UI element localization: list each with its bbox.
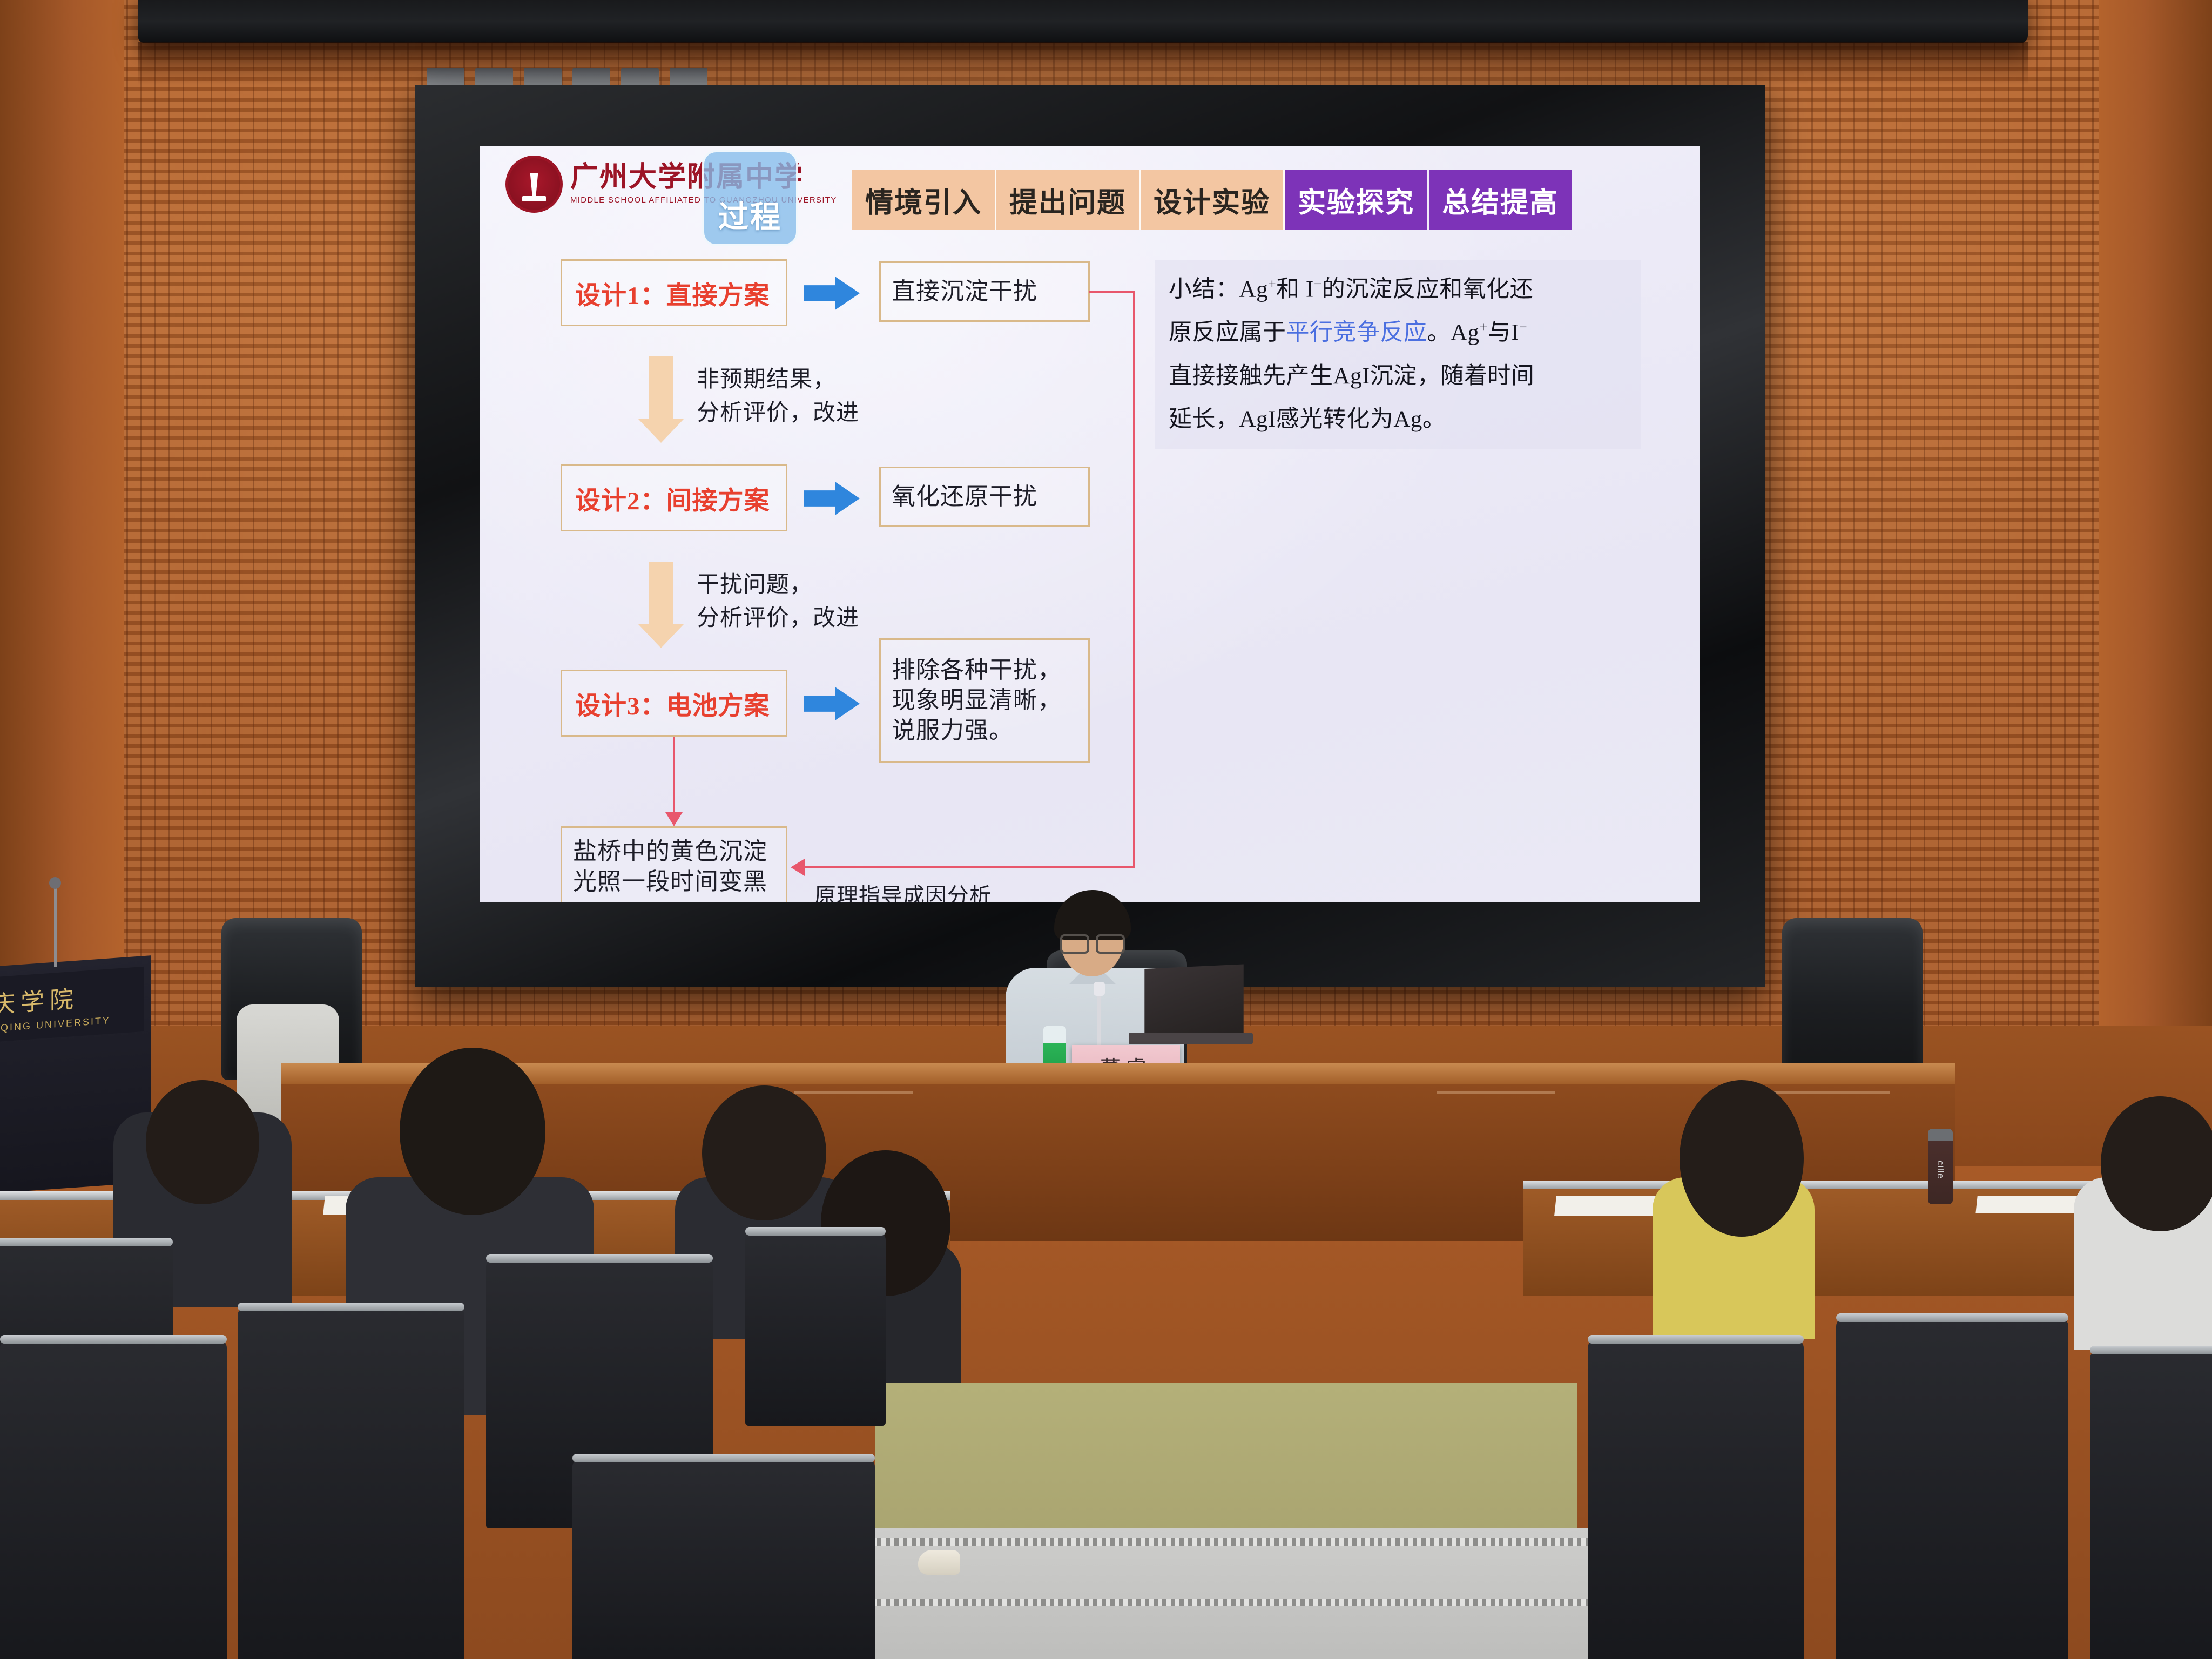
design-1-result-box: 直接沉淀干扰 (879, 261, 1090, 322)
wall-right-pillar (2099, 0, 2212, 1112)
speaker-glasses-icon (1060, 934, 1125, 950)
tab-design-experiment[interactable]: 设计实验 (1141, 170, 1285, 230)
ceiling-dark-panel (138, 0, 2028, 43)
outcome-line-2: 光照一段时间变黑 (573, 867, 775, 897)
design-flow-diagram: 设计1：直接方案 直接沉淀干扰 非预期结果， 分析评价，改进 设计2：间接方案 … (561, 259, 1133, 864)
front-table-top (281, 1063, 1955, 1085)
seat-top-rail (1836, 1313, 2068, 1322)
design-1-box: 设计1：直接方案 (561, 259, 787, 326)
design-2-title: 设计2：间接方案 (575, 480, 770, 517)
summary-l2-b: 。Ag (1427, 320, 1480, 346)
wall-left-pillar (0, 0, 124, 1112)
blue-arrow-icon (804, 276, 860, 310)
seat-back (1588, 1339, 1804, 1659)
seat-back (2090, 1350, 2212, 1659)
podium-sign: 庆学院 OQING UNIVERSITY (0, 967, 144, 1042)
summary-panel: 小结：Ag+和 I−的沉淀反应和氧化还 原反应属于平行竞争反应。Ag+与I− 直… (1155, 260, 1641, 449)
seat-top-rail (572, 1454, 875, 1462)
seat-top-rail (486, 1254, 713, 1263)
design-3-box: 设计3：电池方案 (561, 670, 787, 737)
outcome-box: 盐桥中的黄色沉淀 光照一段时间变黑 (561, 826, 787, 902)
seat-back (745, 1231, 886, 1426)
audience-member-head (1680, 1080, 1804, 1237)
seat-back (1836, 1318, 2068, 1659)
feedback-line-right (1133, 291, 1135, 868)
transition-1-line-1: 非预期结果， (697, 365, 836, 395)
summary-highlight: 平行竞争反应 (1286, 320, 1427, 346)
audience-member-head (400, 1048, 545, 1215)
design-1-title: 设计1：直接方案 (575, 274, 770, 312)
table-groove (794, 1091, 913, 1094)
podium-microphone (54, 886, 57, 967)
step-nosing-strip (842, 1599, 1609, 1606)
shoe (918, 1550, 960, 1575)
table-groove (1771, 1091, 1890, 1094)
seat-top-rail (2090, 1346, 2212, 1354)
presentation-slide: 广州大学附属中学 MIDDLE SCHOOL AFFILIATED TO GUA… (480, 146, 1700, 902)
seat-top-rail (238, 1303, 464, 1311)
water-bottle-brand: cille (1935, 1160, 1946, 1178)
transition-2-line-2: 分析评价，改进 (697, 604, 859, 633)
summary-l2-sup2: − (1519, 319, 1527, 335)
executive-chair (1782, 918, 1923, 1080)
transition-1-arrow-icon (649, 356, 673, 421)
process-badge: 过程 (702, 150, 798, 246)
podium-sign-cn: 庆学院 (0, 974, 144, 1020)
summary-l2-sup1: + (1480, 319, 1488, 335)
aisle-steps (842, 1528, 1609, 1659)
summary-line-4: 延长，AgI感光转化为Ag。 (1169, 407, 1627, 433)
blue-arrow-icon (804, 687, 860, 720)
red-arrow-left-icon (791, 859, 805, 876)
transition-2-arrow-icon (649, 562, 673, 626)
tab-situation-intro[interactable]: 情境引入 (852, 170, 996, 230)
seat-back (0, 1339, 227, 1659)
tab-experiment-inquiry[interactable]: 实验探究 (1285, 170, 1429, 230)
blue-arrow-icon (804, 482, 860, 515)
audience-member-head (702, 1085, 826, 1220)
laptop (1144, 964, 1243, 1039)
slide-section-tabs: 情境引入 提出问题 设计实验 实验探究 总结提高 (852, 170, 1572, 230)
design-3-result-line-1: 排除各种干扰， (892, 655, 1077, 685)
red-connector-vertical (673, 737, 675, 817)
summary-l2-c: 与I (1488, 320, 1519, 346)
seat-top-rail (0, 1335, 227, 1344)
audience-member-head (2101, 1096, 2212, 1231)
summary-line-1: 小结：Ag+和 I−的沉淀反应和氧化还 (1169, 276, 1627, 302)
tab-raise-question[interactable]: 提出问题 (996, 170, 1141, 230)
transition-1-line-2: 分析评价，改进 (697, 399, 859, 428)
outcome-line-1: 盐桥中的黄色沉淀 (573, 837, 775, 867)
feedback-line-top (1089, 291, 1135, 293)
summary-l1-b: 和 I (1276, 276, 1314, 302)
carpet-floor (875, 1382, 1577, 1545)
audience-member-head (146, 1080, 259, 1204)
process-badge-label: 过程 (718, 193, 782, 237)
lecture-hall-scene: 广州大学附属中学 MIDDLE SCHOOL AFFILIATED TO GUA… (0, 0, 2212, 1659)
seat-back (238, 1307, 464, 1659)
design-3-result-box: 排除各种干扰， 现象明显清晰， 说服力强。 (879, 638, 1090, 763)
seat-back (572, 1458, 875, 1659)
feedback-line-bottom (805, 866, 1135, 868)
summary-l1-sup2: − (1314, 276, 1322, 292)
seat-top-rail (745, 1227, 886, 1236)
design-2-result-box: 氧化还原干扰 (879, 467, 1090, 527)
table-groove (1437, 1091, 1555, 1094)
design-2-box: 设计2：间接方案 (561, 464, 787, 531)
summary-line-2: 原反应属于平行竞争反应。Ag+与I− (1169, 320, 1627, 346)
seat-top-rail (0, 1238, 173, 1246)
summary-l1-c: 的沉淀反应和氧化还 (1322, 276, 1534, 302)
transition-2-line-1: 干扰问题， (697, 570, 813, 600)
design-2-result: 氧化还原干扰 (892, 482, 1077, 512)
red-arrow-down-icon (665, 812, 683, 826)
summary-l1-a: 小结：Ag (1169, 276, 1268, 302)
school-crest-icon (505, 156, 563, 213)
step-nosing-strip (842, 1538, 1609, 1546)
design-3-result-line-2: 现象明显清晰， (892, 685, 1077, 716)
design-3-result-line-3: 说服力强。 (892, 716, 1077, 746)
tab-summary-improve[interactable]: 总结提高 (1429, 170, 1572, 230)
laptop-base (1129, 1033, 1253, 1044)
ceiling-panel-shadow (138, 42, 2028, 85)
summary-l2-a: 原反应属于 (1169, 320, 1286, 346)
design-1-result: 直接沉淀干扰 (892, 276, 1077, 307)
design-3-title: 设计3：电池方案 (575, 685, 770, 722)
seat-top-rail (1588, 1335, 1804, 1344)
summary-line-3: 直接接触先产生AgI沉淀，随着时间 (1169, 363, 1627, 389)
water-bottle-cille: cille (1928, 1129, 1953, 1204)
feedback-label: 原理指导成因分析 (814, 878, 992, 902)
summary-l1-sup1: + (1268, 276, 1276, 292)
